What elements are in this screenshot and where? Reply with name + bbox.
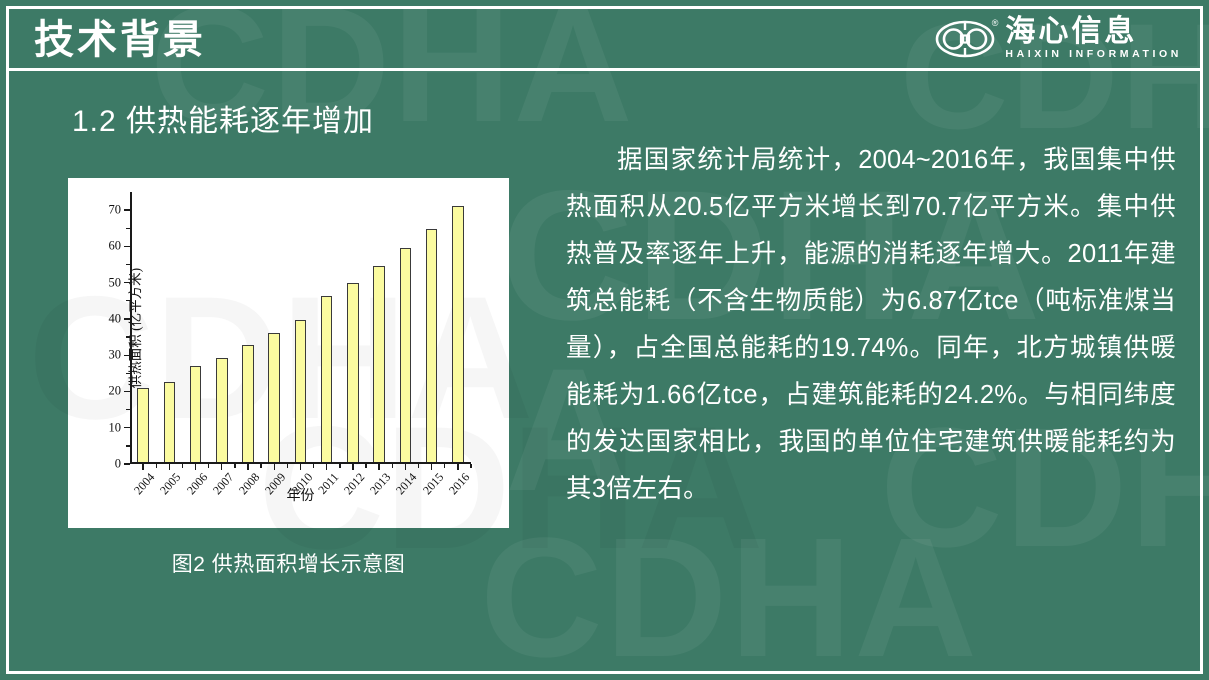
- chart-y-minor-tick: [126, 300, 130, 301]
- figure-caption: 图2 供热面积增长示意图: [68, 548, 509, 578]
- chart-y-tick: [124, 463, 130, 464]
- chart-x-minor-tick: [234, 464, 235, 468]
- chart-y-tick-label: 50: [109, 275, 122, 290]
- chart-y-minor-tick: [126, 373, 130, 374]
- logo-text-block: 海心信息 HAIXIN INFORMATION: [1005, 16, 1182, 61]
- chart-x-minor-tick: [260, 464, 261, 468]
- chart-bar: [321, 296, 333, 462]
- chart-bar: [426, 229, 438, 462]
- chart-x-minor-tick: [182, 464, 183, 468]
- chart-y-tick-label: 10: [109, 420, 122, 435]
- chart-x-minor-tick: [287, 464, 288, 468]
- chart-y-tick-label: 70: [109, 203, 122, 218]
- logo-company-name-cn: 海心信息: [1005, 16, 1182, 48]
- haixin-emblem-icon: ®: [935, 19, 995, 59]
- page-title: 技术背景: [34, 13, 206, 67]
- chart-bar: [295, 320, 307, 462]
- chart-figure: CDHA CDHA 供热面积 (亿平方米) 010203040506070 年份…: [68, 178, 509, 528]
- chart-x-tick-labels: 年份 2004200520062007200820092010201120122…: [130, 470, 471, 514]
- chart-y-minor-tick: [126, 336, 130, 337]
- chart-y-tick: [124, 391, 130, 392]
- chart-canvas: CDHA CDHA 供热面积 (亿平方米) 010203040506070 年份…: [68, 178, 509, 528]
- chart-bar: [242, 345, 254, 462]
- chart-x-minor-tick: [470, 464, 471, 468]
- chart-y-tick: [124, 318, 130, 319]
- chart-bar: [347, 283, 359, 463]
- chart-x-minor-tick: [313, 464, 314, 468]
- chart-plot-area: 010203040506070: [130, 192, 471, 464]
- chart-x-minor-tick: [444, 464, 445, 468]
- chart-bar: [164, 382, 176, 462]
- chart-y-minor-tick: [126, 409, 130, 410]
- chart-x-minor-tick: [339, 464, 340, 468]
- chart-bar: [452, 206, 464, 462]
- company-logo: ® 海心信息 HAIXIN INFORMATION: [935, 16, 1182, 61]
- chart-y-tick-label: 20: [109, 384, 122, 399]
- chart-y-tick: [124, 355, 130, 356]
- chart-y-tick: [124, 282, 130, 283]
- chart-x-minor-tick: [365, 464, 366, 468]
- section-subtitle: 1.2 供热能耗逐年增加: [72, 96, 374, 140]
- chart-x-minor-tick: [156, 464, 157, 468]
- chart-y-minor-tick: [126, 228, 130, 229]
- chart-x-minor-tick: [418, 464, 419, 468]
- chart-x-minor-tick: [208, 464, 209, 468]
- chart-y-tick: [124, 427, 130, 428]
- watermark-text: CDHA: [480, 500, 979, 680]
- chart-y-tick-label: 0: [115, 457, 121, 472]
- chart-y-minor-tick: [126, 445, 130, 446]
- slide-header: 技术背景 ® 海心信息 HAIXIN INFORMATION: [9, 9, 1200, 71]
- chart-bar: [400, 248, 412, 462]
- chart-y-minor-tick: [126, 264, 130, 265]
- chart-bar: [216, 358, 228, 462]
- chart-bar: [137, 388, 149, 462]
- chart-bar: [190, 366, 202, 462]
- logo-company-name-en: HAIXIN INFORMATION: [1005, 48, 1182, 61]
- chart-x-minor-tick: [392, 464, 393, 468]
- registered-mark: ®: [992, 19, 999, 28]
- chart-y-tick: [124, 209, 130, 210]
- chart-bar: [268, 333, 280, 462]
- chart-y-tick-label: 40: [109, 311, 122, 326]
- chart-bar: [373, 266, 385, 462]
- chart-y-axis: [130, 192, 132, 464]
- chart-y-tick: [124, 246, 130, 247]
- chart-y-tick-label: 30: [109, 348, 122, 363]
- body-paragraph: 据国家统计局统计，2004~2016年，我国集中供热面积从20.5亿平方米增长到…: [566, 137, 1176, 513]
- chart-y-tick-label: 60: [109, 239, 122, 254]
